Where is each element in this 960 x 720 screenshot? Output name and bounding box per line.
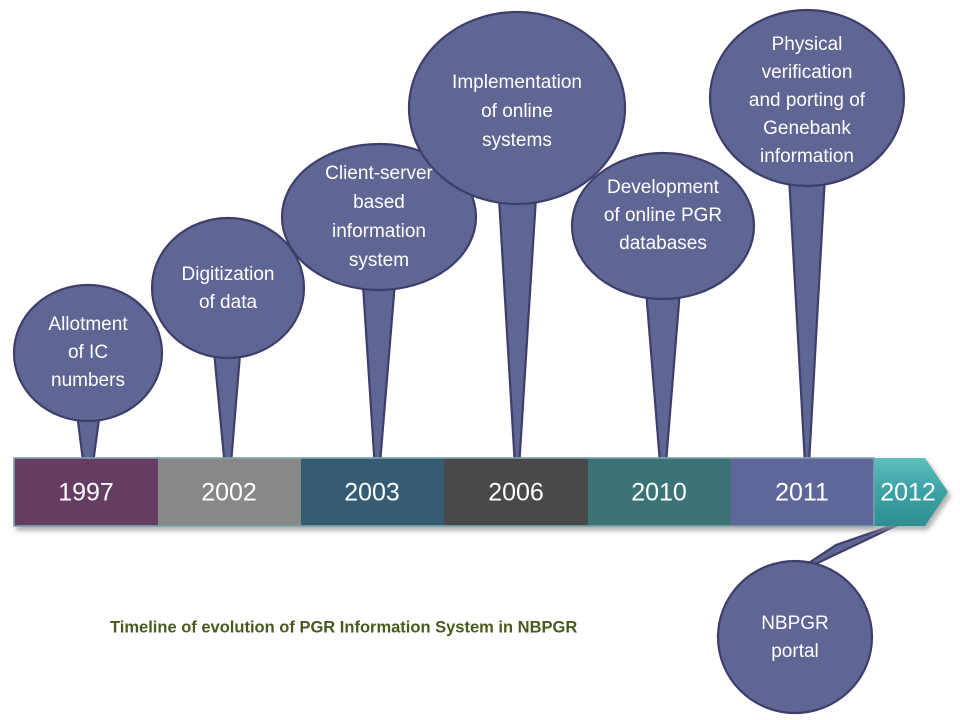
diagram-caption: Timeline of evolution of PGR Information…	[110, 618, 577, 636]
callout-1997-line-2: of IC	[68, 342, 108, 363]
callout-2006-line-2: of online	[481, 101, 553, 122]
callout-2006-line-1: Implementation	[452, 72, 582, 93]
year-label-2006: 2006	[488, 479, 544, 507]
callout-bubbles: Allotment of IC numbers Digitization of …	[14, 10, 904, 713]
callout-2002-line-1: Digitization	[182, 264, 275, 285]
callout-2010-line-3: databases	[619, 233, 707, 254]
callout-2011[interactable]: Physical verification and porting of Gen…	[710, 10, 904, 186]
callout-2006-line-3: systems	[482, 130, 552, 151]
callout-2006[interactable]: Implementation of online systems	[409, 12, 625, 204]
callout-1997[interactable]: Allotment of IC numbers	[14, 285, 162, 421]
year-label-2012: 2012	[880, 479, 936, 507]
callout-2011-line-3: and porting of	[749, 90, 866, 111]
callout-2011-line-2: verification	[762, 62, 853, 83]
tail-2006	[497, 165, 538, 500]
callout-2012-line-2: portal	[771, 641, 819, 662]
callout-2010-line-2: of online PGR	[604, 205, 722, 226]
callout-1997-line-3: numbers	[51, 370, 125, 391]
callout-1997-line-1: Allotment	[48, 314, 128, 335]
callout-2010[interactable]: Development of online PGR databases	[572, 153, 754, 299]
callout-2002-bubble[interactable]	[152, 218, 304, 358]
callout-2003-line-2: based	[353, 192, 405, 213]
callout-2002-line-2: of data	[199, 292, 258, 313]
callout-2003-line-4: system	[349, 250, 409, 271]
year-label-2011: 2011	[775, 479, 829, 507]
callout-2011-line-4: Genebank	[763, 118, 851, 139]
callout-2012-line-1: NBPGR	[761, 613, 829, 634]
timeline-diagram-canvas: 1997 2002 2003 2006 2010 2011 2012 Allot…	[0, 0, 960, 720]
callout-2002[interactable]: Digitization of data	[152, 218, 304, 358]
tail-2011	[789, 176, 825, 500]
year-label-2002: 2002	[201, 479, 257, 507]
year-label-2010: 2010	[631, 479, 687, 507]
callout-2012[interactable]: NBPGR portal	[718, 561, 872, 713]
callout-2003-line-3: information	[332, 221, 426, 242]
callout-2010-line-1: Development	[607, 177, 720, 198]
year-label-2003: 2003	[344, 479, 400, 507]
year-label-1997: 1997	[58, 479, 114, 507]
callout-2012-bubble[interactable]	[718, 561, 872, 713]
callout-2003-line-1: Client-server	[325, 163, 433, 184]
callout-2011-line-5: information	[760, 146, 854, 167]
callout-2011-line-1: Physical	[772, 34, 843, 55]
